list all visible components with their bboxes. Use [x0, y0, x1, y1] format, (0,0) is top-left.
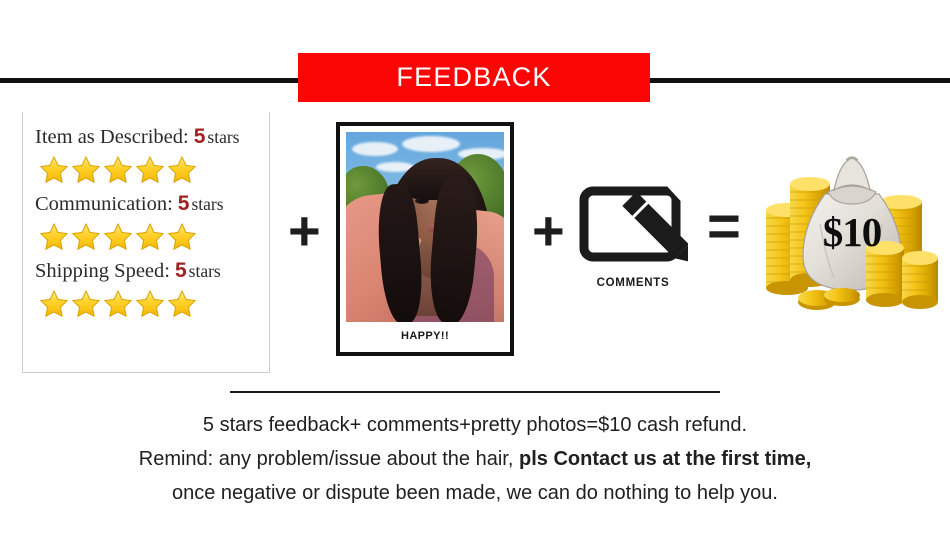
customer-photo — [346, 132, 504, 322]
feedback-badge: FEEDBACK — [298, 53, 650, 102]
star-rating-shipping-speed — [39, 289, 269, 319]
star-icon — [103, 155, 133, 185]
rating-label: Communication: — [35, 193, 173, 215]
rating-line-communication: Communication:5stars — [35, 191, 269, 218]
ratings-panel: Item as Described:5stars Communication:5… — [22, 112, 270, 373]
comments-label: COMMENTS — [578, 277, 688, 289]
plus-operator-icon: + — [288, 203, 321, 259]
loose-coin — [824, 288, 860, 306]
rating-score: 5 — [173, 192, 192, 215]
rating-unit: stars — [189, 261, 221, 281]
rating-unit: stars — [191, 194, 223, 214]
comments-block: COMMENTS — [578, 179, 688, 289]
rating-line-item-as-described: Item as Described:5stars — [35, 124, 269, 151]
rating-label: Item as Described: — [35, 126, 189, 148]
comments-icon — [578, 179, 688, 267]
feedback-badge-label: FEEDBACK — [396, 64, 551, 91]
star-icon — [135, 222, 165, 252]
feedback-banner: FEEDBACK Item as Described:5stars Commun… — [0, 0, 950, 551]
star-icon — [167, 155, 197, 185]
rating-score: 5 — [170, 259, 189, 282]
footer-text: 5 stars feedback+ comments+pretty photos… — [0, 408, 950, 510]
star-icon — [71, 155, 101, 185]
rating-label: Shipping Speed: — [35, 260, 170, 282]
money-bag-icon — [762, 152, 942, 317]
coin-stack — [902, 251, 938, 309]
footer-divider — [230, 391, 720, 393]
plus-operator-icon: + — [532, 203, 565, 259]
rating-row: Shipping Speed:5stars — [35, 258, 269, 319]
equals-operator-icon: = — [707, 198, 741, 256]
star-icon — [39, 289, 69, 319]
footer-line-2-bold: pls Contact us at the first time, — [519, 448, 811, 470]
star-icon — [39, 155, 69, 185]
rating-row: Communication:5stars — [35, 191, 269, 252]
footer-line-1: 5 stars feedback+ comments+pretty photos… — [0, 408, 950, 442]
star-icon — [167, 289, 197, 319]
star-icon — [135, 155, 165, 185]
star-icon — [135, 289, 165, 319]
star-icon — [103, 222, 133, 252]
rating-row: Item as Described:5stars — [35, 124, 269, 185]
star-rating-communication — [39, 222, 269, 252]
coin-stack — [866, 241, 904, 307]
footer-line-2-normal: Remind: any problem/issue about the hair… — [139, 448, 514, 470]
star-rating-item-as-described — [39, 155, 269, 185]
footer-line-3: once negative or dispute been made, we c… — [0, 476, 950, 510]
customer-photo-frame: HAPPY!! — [336, 122, 514, 356]
star-icon — [71, 289, 101, 319]
customer-photo-caption: HAPPY!! — [346, 322, 504, 350]
cash-reward-illustration: $10 — [762, 152, 942, 317]
footer-line-2: Remind: any problem/issue about the hair… — [0, 442, 950, 476]
star-icon — [39, 222, 69, 252]
star-icon — [103, 289, 133, 319]
star-icon — [167, 222, 197, 252]
rating-score: 5 — [189, 125, 208, 148]
rating-unit: stars — [207, 127, 239, 147]
star-icon — [71, 222, 101, 252]
rating-line-shipping-speed: Shipping Speed:5stars — [35, 258, 269, 285]
